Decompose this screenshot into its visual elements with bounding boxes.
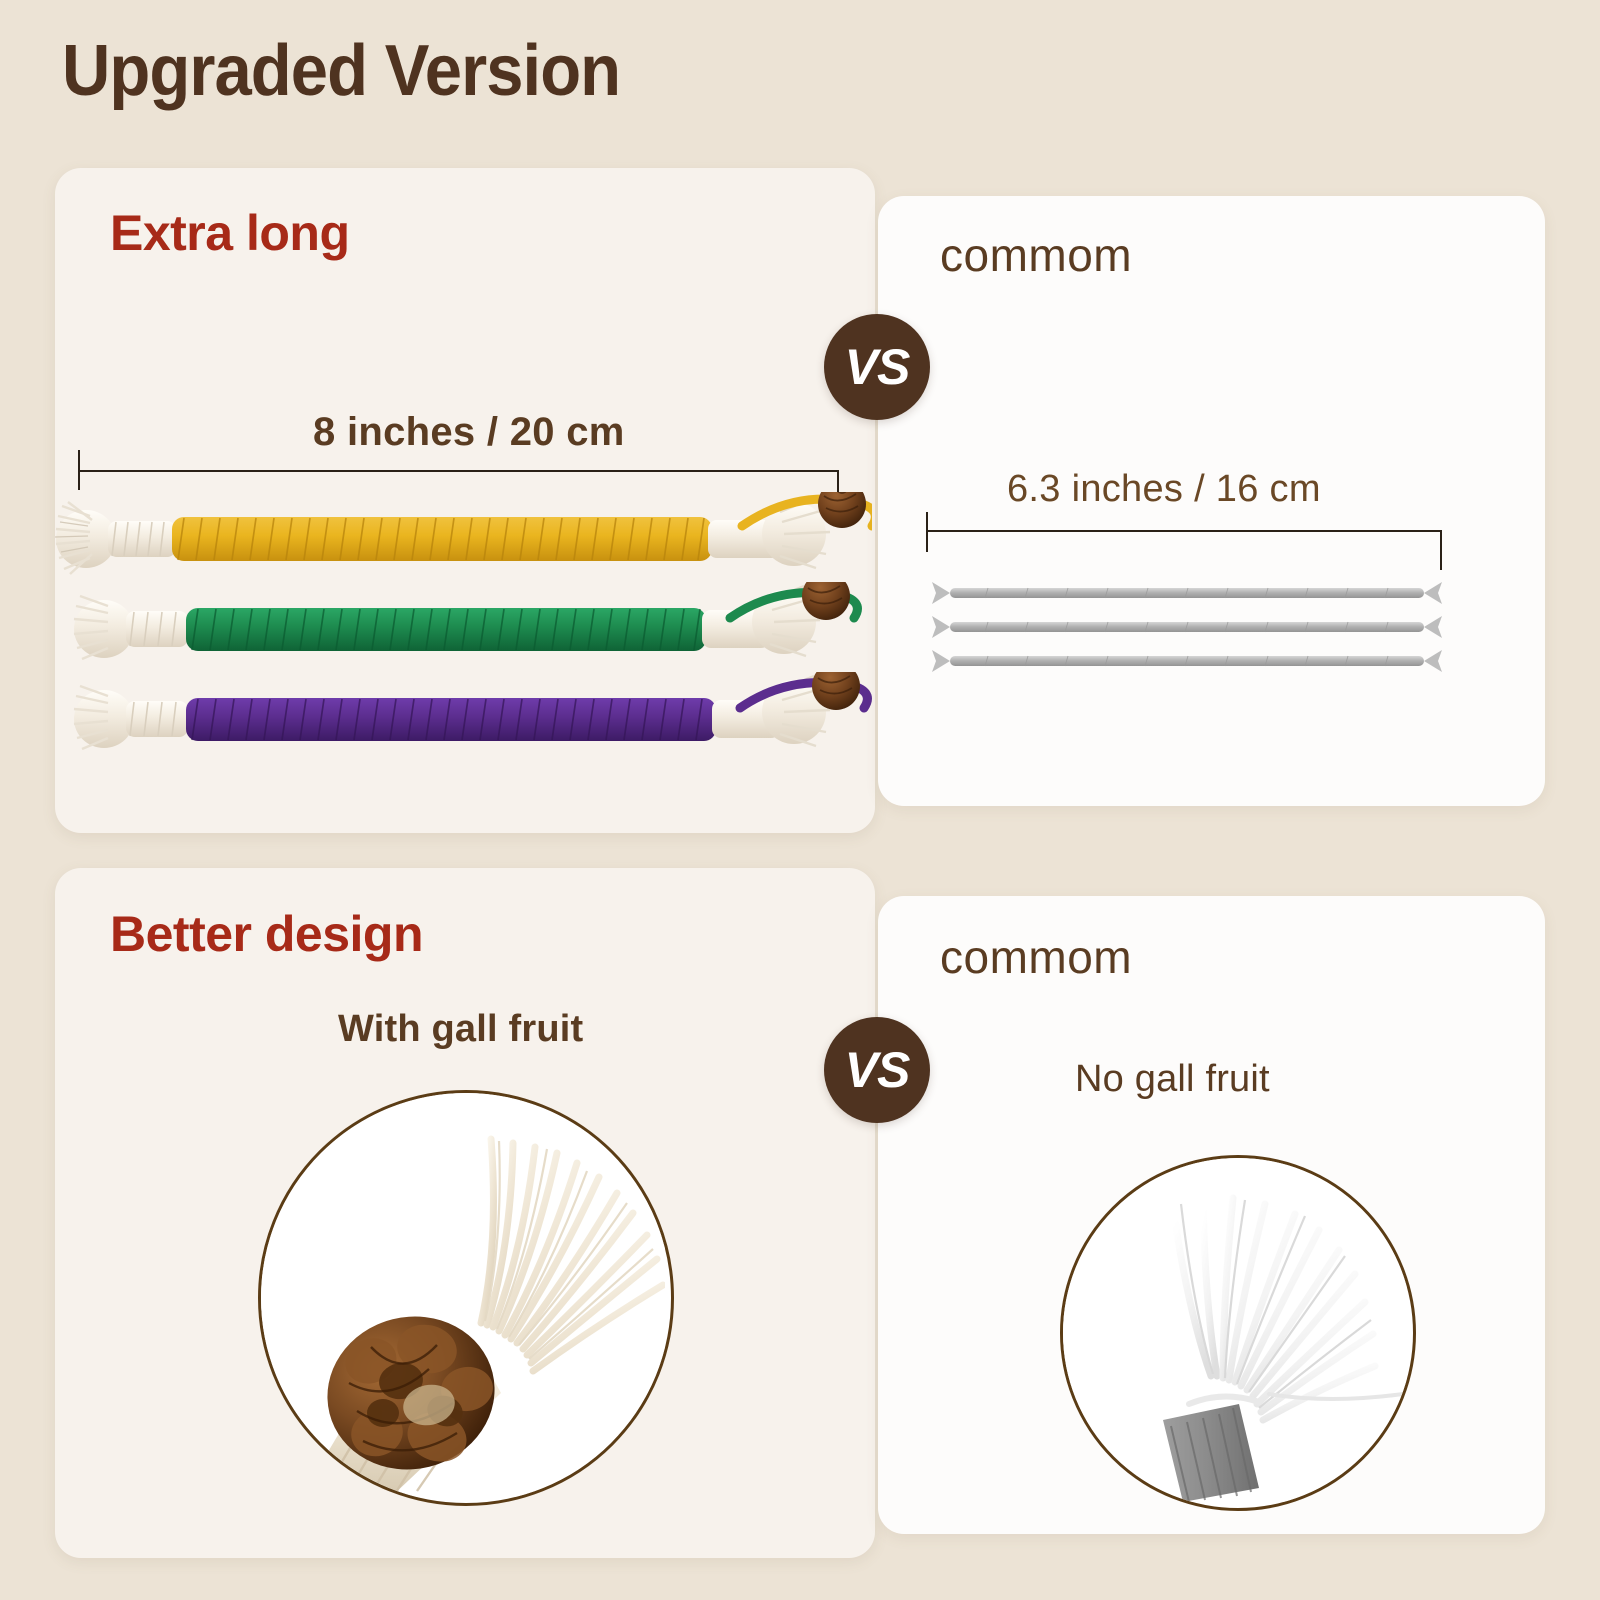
- heading-common-length: commom: [940, 228, 1132, 282]
- rope-toy-yellow: [52, 492, 872, 588]
- vs-badge-bottom: VS: [824, 1017, 930, 1123]
- rope-toy-purple: [70, 672, 880, 768]
- measurement-tick-left-common: [926, 512, 928, 552]
- measurement-label-upgraded: 8 inches / 20 cm: [313, 410, 625, 455]
- caption-with-gall-fruit: With gall fruit: [338, 1008, 583, 1051]
- page-title: Upgraded Version: [62, 34, 620, 110]
- heading-common-design: commom: [940, 930, 1132, 984]
- detail-photo-no-gall-fruit: [1060, 1155, 1416, 1511]
- common-rope-2: [928, 614, 1446, 640]
- heading-extra-long: Extra long: [110, 204, 349, 262]
- vs-badge-top: VS: [824, 314, 930, 420]
- rope-toy-green: [70, 582, 880, 678]
- measurement-tick-right-common: [1440, 530, 1442, 570]
- common-rope-1: [928, 580, 1446, 606]
- measurement-line-common: [926, 530, 1441, 532]
- measurement-tick-left-upgraded: [78, 450, 80, 490]
- measurement-label-common: 6.3 inches / 16 cm: [1007, 468, 1321, 511]
- detail-photo-with-gall-fruit: [258, 1090, 674, 1506]
- heading-better-design: Better design: [110, 905, 423, 963]
- common-rope-3: [928, 648, 1446, 674]
- measurement-line-upgraded: [78, 470, 838, 472]
- infographic-root: Upgraded Version Extra long 8 inches / 2…: [0, 0, 1600, 1600]
- gall-fruit-node: [818, 492, 866, 528]
- caption-no-gall-fruit: No gall fruit: [1075, 1058, 1270, 1101]
